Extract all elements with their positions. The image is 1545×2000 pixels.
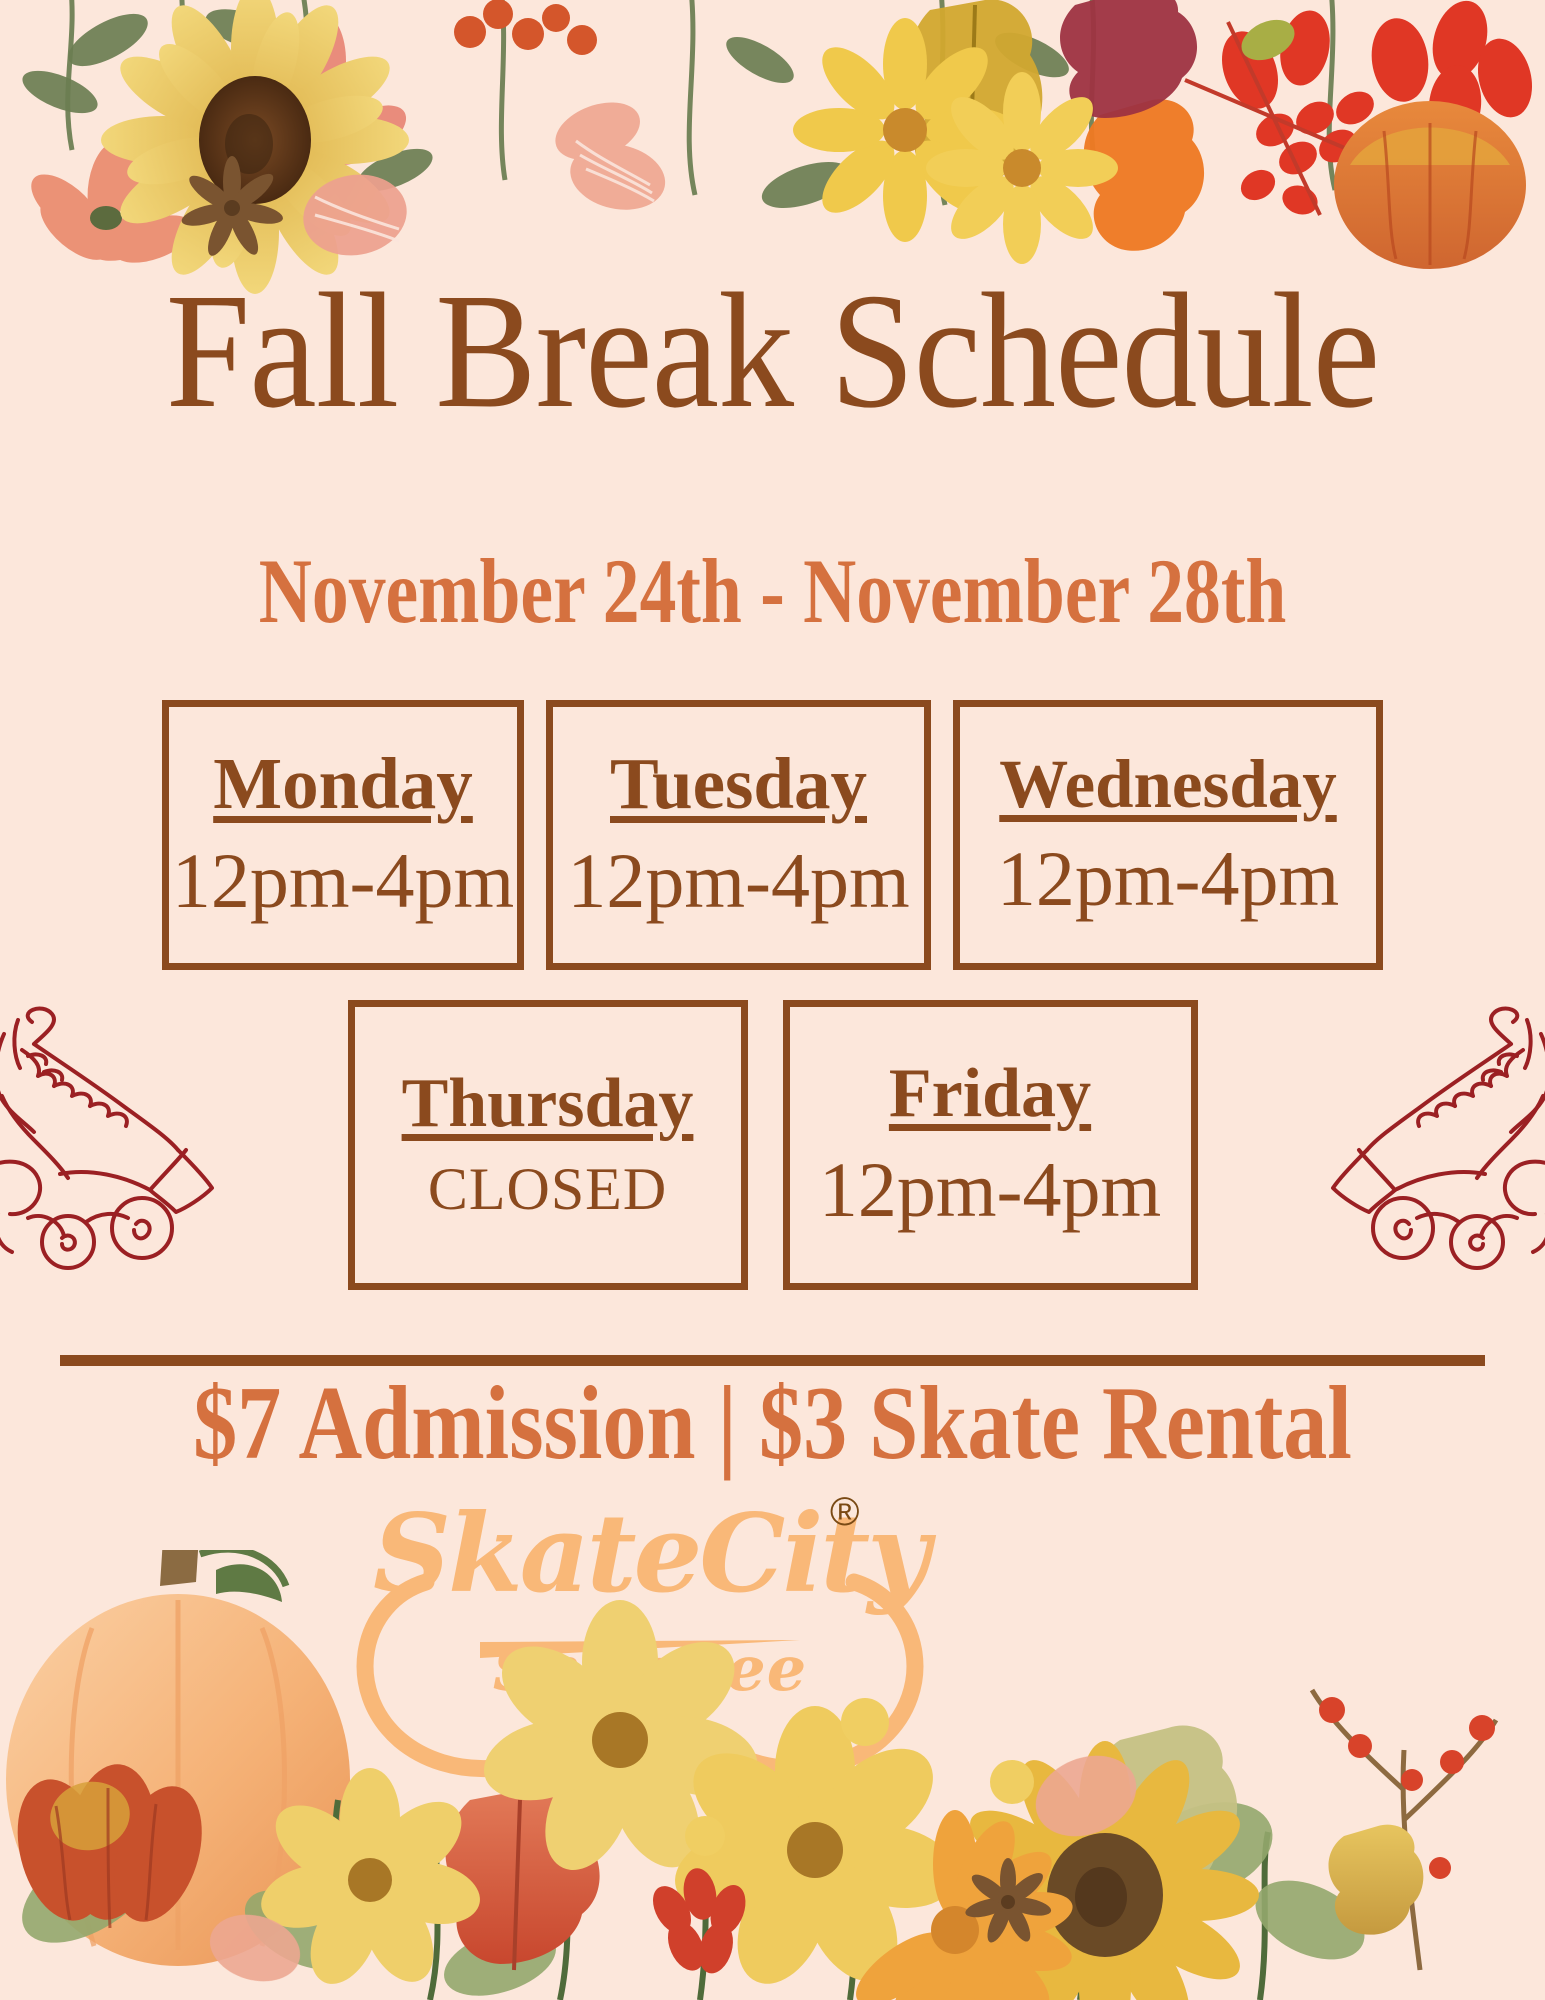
top-floral-border-decoration <box>0 0 1545 300</box>
schedule-box-wednesday: Wednesday 12pm-4pm <box>953 700 1383 970</box>
date-range-subtitle: November 24th - November 28th <box>155 545 1391 637</box>
day-label-wednesday: Wednesday <box>999 749 1336 819</box>
registered-trademark-icon: ® <box>830 1490 859 1535</box>
day-hours-wednesday: 12pm-4pm <box>997 837 1339 921</box>
schedule-box-tuesday: Tuesday 12pm-4pm <box>546 700 931 970</box>
skate-city-logo: SkateCity Shawnee ® <box>330 1490 950 1780</box>
day-label-tuesday: Tuesday <box>610 747 867 821</box>
pricing-line: $7 Admission | $3 Skate Rental <box>124 1370 1422 1475</box>
day-label-thursday: Thursday <box>402 1068 694 1139</box>
day-hours-friday: 12pm-4pm <box>819 1148 1161 1232</box>
schedule-box-friday: Friday 12pm-4pm <box>783 1000 1198 1290</box>
day-hours-tuesday: 12pm-4pm <box>567 839 909 923</box>
day-hours-monday: 12pm-4pm <box>172 839 514 923</box>
day-label-friday: Friday <box>889 1058 1091 1129</box>
logo-location-name: Shawnee <box>370 1638 930 1700</box>
page-title: Fall Break Schedule <box>62 268 1483 433</box>
poster-canvas: Fall Break Schedule November 24th - Nove… <box>0 0 1545 2000</box>
schedule-row-one: Monday 12pm-4pm Tuesday 12pm-4pm Wednesd… <box>0 700 1545 970</box>
schedule-row-two: Thursday CLOSED Friday 12pm-4pm <box>0 1000 1545 1290</box>
schedule-box-monday: Monday 12pm-4pm <box>162 700 524 970</box>
day-label-monday: Monday <box>213 747 473 821</box>
day-hours-thursday: CLOSED <box>428 1157 667 1222</box>
schedule-box-thursday: Thursday CLOSED <box>348 1000 748 1290</box>
